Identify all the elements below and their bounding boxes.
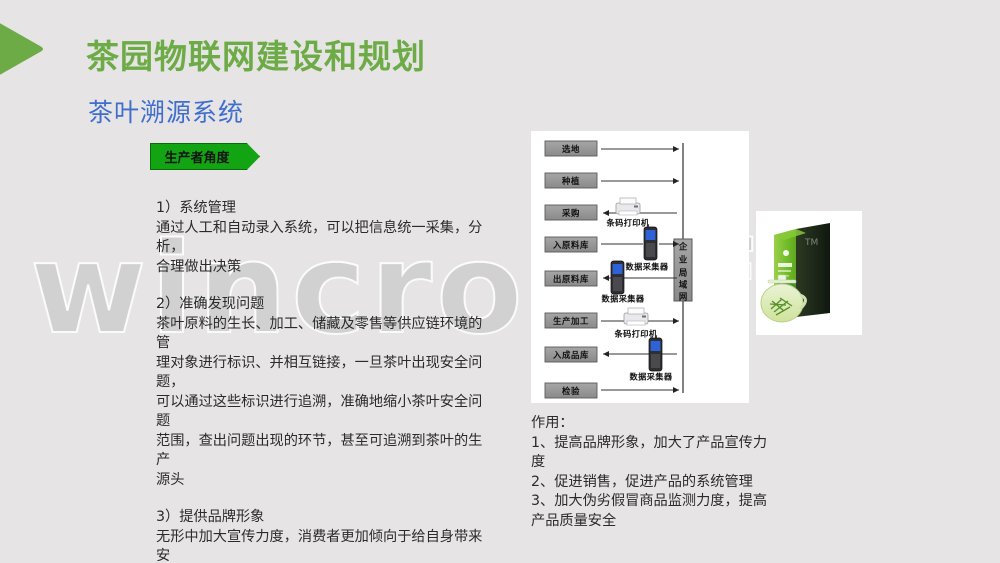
svg-text:种植: 种植	[561, 176, 580, 186]
svg-text:网: 网	[679, 292, 687, 302]
page-subtitle: 茶叶溯源系统	[88, 93, 244, 129]
body-paragraph-3: 3）提供品牌形象 无形中加大宣传力度，消费者更加倾向于给自身带来安 全感的产品，…	[156, 508, 486, 563]
flow-diagram-svg: 企 业 局 域 网 选地 种植 采购 条码打印机	[531, 131, 749, 403]
svg-text:出原料库: 出原料库	[553, 274, 589, 284]
body-paragraph-2: 2）准确发现问题 茶叶原料的生长、加工、储藏及零售等供应链环境的管 理对象进行标…	[156, 295, 486, 490]
barcode-printer-icon-2	[624, 308, 648, 325]
svg-text:条码打印机: 条码打印机	[606, 218, 650, 228]
data-collector-icon-1	[644, 227, 657, 260]
slide-canvas: wincrosoft 茶园物联网建设和规划 茶叶溯源系统 生产者角度 1）系统管…	[0, 0, 1000, 563]
section-badge: 生产者角度	[150, 143, 260, 170]
svg-text:条码打印机: 条码打印机	[614, 329, 658, 339]
svg-text:局: 局	[678, 268, 687, 278]
svg-text:入原料库: 入原料库	[552, 240, 589, 250]
svg-text:数据采集器: 数据采集器	[630, 372, 673, 382]
svg-text:生产加工: 生产加工	[553, 316, 589, 326]
tea-product-photo: TM	[756, 211, 862, 335]
traceability-flow-diagram: 企 业 局 域 网 选地 种植 采购 条码打印机	[531, 131, 749, 403]
svg-text:TM: TM	[804, 238, 818, 248]
tea-product-svg: TM	[756, 211, 862, 335]
section-badge-label: 生产者角度	[150, 143, 244, 170]
right-arrow-marker-icon	[0, 19, 52, 79]
effect-note: 作用： 1、提高品牌形象，加大了产品宣传力 度 2、促进销售，促进产品的系统管理…	[531, 414, 851, 531]
svg-text:检验: 检验	[562, 386, 580, 396]
svg-text:域: 域	[679, 280, 688, 290]
page-title: 茶园物联网建设和规划	[86, 30, 426, 78]
svg-text:企: 企	[678, 242, 688, 252]
data-collector-icon-2	[611, 261, 624, 294]
svg-text:选地: 选地	[562, 144, 580, 154]
barcode-printer-icon-1	[616, 198, 640, 215]
svg-text:入成品库: 入成品库	[552, 350, 589, 360]
svg-text:数据采集器: 数据采集器	[602, 294, 645, 304]
svg-text:采购: 采购	[561, 208, 580, 218]
data-collector-icon-3	[649, 338, 662, 371]
svg-text:业: 业	[679, 255, 688, 265]
body-paragraph-1: 1）系统管理 通过人工和自动录入系统，可以把信息统一采集，分析， 合理做出决策	[156, 199, 486, 277]
body-text-column: 1）系统管理 通过人工和自动录入系统，可以把信息统一采集，分析， 合理做出决策 …	[156, 199, 486, 563]
svg-text:数据采集器: 数据采集器	[626, 262, 669, 272]
